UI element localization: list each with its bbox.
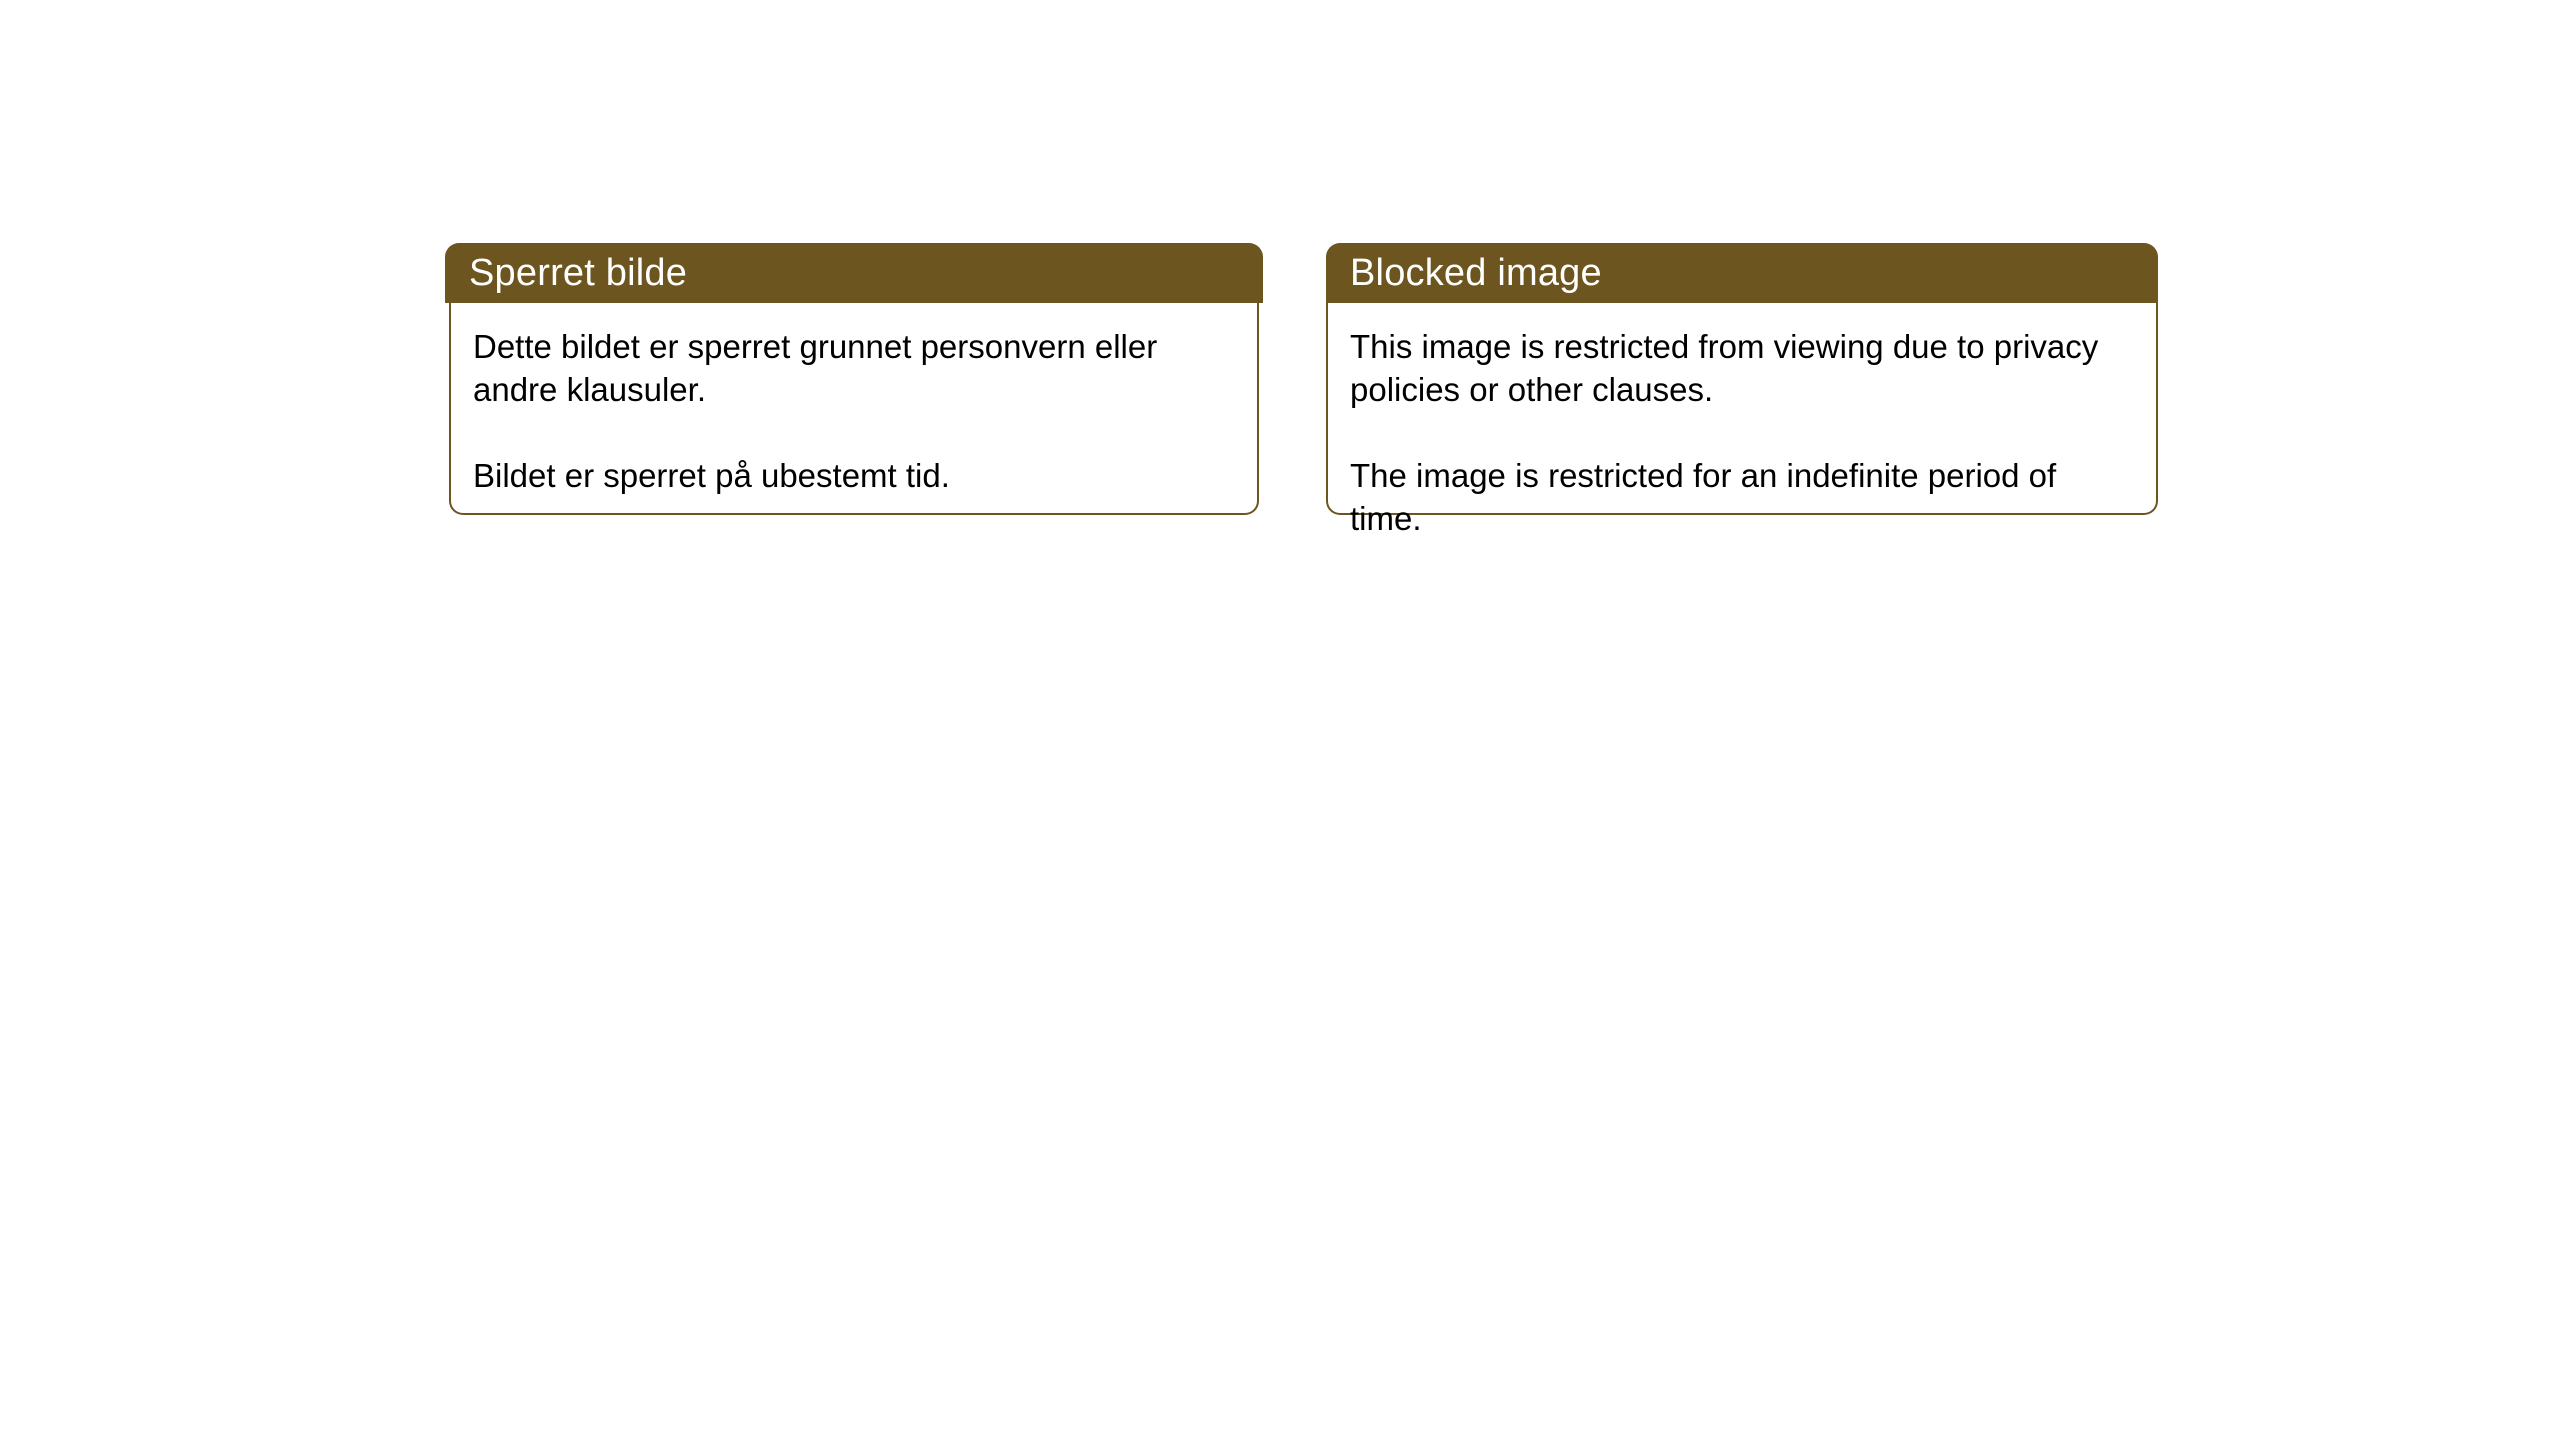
blocked-image-notice-card-norwegian: Sperret bilde Dette bildet er sperret gr… <box>445 243 1263 515</box>
card-header-norwegian: Sperret bilde <box>445 243 1263 303</box>
card-paragraph-english-1: This image is restricted from viewing du… <box>1350 325 2134 411</box>
card-header-english: Blocked image <box>1326 243 2158 303</box>
card-paragraph-english-2: The image is restricted for an indefinit… <box>1350 454 2134 540</box>
page-root: Sperret bilde Dette bildet er sperret gr… <box>0 0 2560 1440</box>
card-body-english: This image is restricted from viewing du… <box>1326 303 2158 515</box>
card-paragraph-norwegian-2: Bildet er sperret på ubestemt tid. <box>473 454 1235 497</box>
notice-cards-row: Sperret bilde Dette bildet er sperret gr… <box>445 243 2158 515</box>
card-title-norwegian: Sperret bilde <box>469 251 687 295</box>
card-body-norwegian: Dette bildet er sperret grunnet personve… <box>449 303 1259 515</box>
card-title-english: Blocked image <box>1350 251 1602 295</box>
blocked-image-notice-card-english: Blocked image This image is restricted f… <box>1326 243 2158 515</box>
card-paragraph-norwegian-1: Dette bildet er sperret grunnet personve… <box>473 325 1235 411</box>
